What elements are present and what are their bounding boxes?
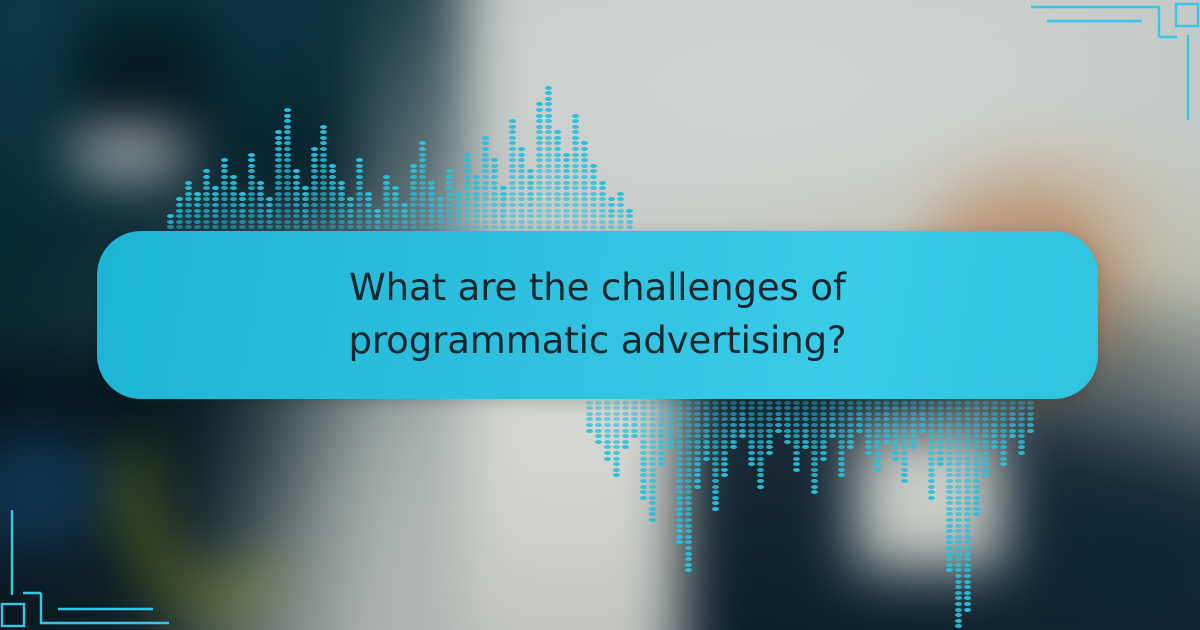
waveform-dot (1009, 401, 1016, 405)
waveform-dot (563, 186, 570, 190)
waveform-dot (464, 181, 471, 185)
waveform-dot (392, 192, 399, 196)
waveform-dot (311, 220, 318, 224)
waveform-dot (554, 164, 561, 168)
waveform-bar (607, 197, 616, 231)
waveform-dot (410, 175, 417, 179)
waveform-dot (973, 423, 980, 427)
waveform-dot (311, 158, 318, 162)
waveform-dot (613, 473, 620, 477)
waveform-dot (491, 158, 498, 162)
waveform-dot (410, 220, 417, 224)
waveform-dot (685, 529, 692, 533)
waveform-dot (590, 203, 597, 207)
waveform-dot (667, 434, 674, 438)
waveform-dot (581, 169, 588, 173)
waveform-dot (491, 175, 498, 179)
waveform-dot (176, 225, 183, 229)
waveform-dot (527, 186, 534, 190)
waveform-dot (973, 473, 980, 477)
waveform-dot (955, 457, 962, 461)
waveform-dot (329, 209, 336, 213)
waveform-dot (955, 546, 962, 550)
waveform-dot (802, 412, 809, 416)
waveform-dot (982, 412, 989, 416)
waveform-dot (739, 417, 746, 421)
waveform-dot (275, 181, 282, 185)
waveform-dot (275, 169, 282, 173)
waveform-dot (586, 417, 593, 421)
waveform-dot (766, 440, 773, 444)
waveform-dot (838, 412, 845, 416)
waveform-bar (463, 153, 472, 231)
waveform-dot (194, 214, 201, 218)
waveform-dot (838, 451, 845, 455)
waveform-dot (712, 490, 719, 494)
waveform-bar (828, 399, 837, 438)
waveform-bar (891, 399, 900, 461)
waveform-dot (536, 108, 543, 112)
waveform-dot (302, 209, 309, 213)
waveform-dot (446, 214, 453, 218)
waveform-dot (883, 401, 890, 405)
waveform-dot (766, 417, 773, 421)
waveform-dot (649, 479, 656, 483)
waveform-dot (631, 423, 638, 427)
waveform-dot (599, 209, 606, 213)
waveform-dot (892, 445, 899, 449)
waveform-dot (329, 181, 336, 185)
waveform-dot (482, 169, 489, 173)
waveform-bar (472, 175, 481, 231)
waveform-dot (928, 490, 935, 494)
waveform-dot (721, 434, 728, 438)
waveform-dot (545, 209, 552, 213)
waveform-dot (964, 473, 971, 477)
waveform-dot (329, 220, 336, 224)
waveform-dot (536, 130, 543, 134)
waveform-dot (347, 225, 354, 229)
waveform-dot (892, 406, 899, 410)
waveform-dot (1027, 406, 1034, 410)
waveform-dot (518, 197, 525, 201)
waveform-dot (500, 209, 507, 213)
waveform-dot (617, 220, 624, 224)
waveform-dot (482, 181, 489, 185)
waveform-dot (572, 153, 579, 157)
waveform-dot (703, 417, 710, 421)
waveform-dot (446, 225, 453, 229)
waveform-dot (991, 423, 998, 427)
waveform-dot (473, 203, 480, 207)
waveform-dot (491, 164, 498, 168)
waveform-dot (820, 417, 827, 421)
waveform-dot (320, 186, 327, 190)
waveform-dot (194, 192, 201, 196)
waveform-dot (676, 490, 683, 494)
waveform-dot (293, 175, 300, 179)
waveform-dot (473, 197, 480, 201)
waveform-dot (964, 563, 971, 567)
circuit-corner-icon-bottom-left (0, 510, 175, 630)
waveform-dot (883, 440, 890, 444)
waveform-dot (757, 479, 764, 483)
waveform-dot (622, 445, 629, 449)
waveform-dot (203, 186, 210, 190)
waveform-dot (329, 175, 336, 179)
waveform-bar (175, 197, 184, 231)
waveform-dot (581, 141, 588, 145)
waveform-dot (338, 197, 345, 201)
waveform-dot (874, 412, 881, 416)
waveform-dot (964, 496, 971, 500)
waveform-dot (658, 423, 665, 427)
waveform-dot (667, 423, 674, 427)
waveform-dot (703, 429, 710, 433)
waveform-dot (928, 434, 935, 438)
waveform-dot (757, 468, 764, 472)
waveform-bar (990, 399, 999, 449)
waveform-bar (927, 399, 936, 500)
waveform-dot (946, 457, 953, 461)
waveform-dot (518, 153, 525, 157)
waveform-bar (211, 186, 220, 231)
waveform-dot (739, 401, 746, 405)
waveform-dot (640, 485, 647, 489)
waveform-bar (481, 136, 490, 231)
waveform-dot (482, 147, 489, 151)
waveform-dot (275, 225, 282, 229)
waveform-dot (721, 417, 728, 421)
waveform-dot (1009, 406, 1016, 410)
circuit-corner-icon-top-right (1025, 0, 1200, 120)
waveform-dot (883, 423, 890, 427)
waveform-dot (811, 451, 818, 455)
waveform-dot (617, 214, 624, 218)
waveform-dot (856, 429, 863, 433)
waveform-dot (676, 445, 683, 449)
waveform-dot (901, 462, 908, 466)
waveform-dot (964, 552, 971, 556)
waveform-dot (455, 225, 462, 229)
waveform-dot (604, 451, 611, 455)
waveform-dot (694, 473, 701, 477)
waveform-dot (509, 136, 516, 140)
waveform-dot (685, 501, 692, 505)
waveform-dot (581, 220, 588, 224)
waveform-dot (676, 479, 683, 483)
waveform-dot (946, 535, 953, 539)
waveform-dot (865, 429, 872, 433)
waveform-dot (410, 164, 417, 168)
waveform-dot (275, 214, 282, 218)
waveform-dot (838, 406, 845, 410)
waveform-dot (964, 602, 971, 606)
waveform-dot (563, 164, 570, 168)
waveform-dot (838, 434, 845, 438)
waveform-dot (658, 417, 665, 421)
waveform-dot (509, 175, 516, 179)
waveform-dot (649, 496, 656, 500)
waveform-bar (792, 399, 801, 472)
waveform-dot (581, 164, 588, 168)
waveform-dot (320, 164, 327, 168)
waveform-dot (554, 203, 561, 207)
waveform-dot (631, 406, 638, 410)
waveform-dot (757, 434, 764, 438)
waveform-dot (811, 473, 818, 477)
waveform-dot (631, 412, 638, 416)
waveform-dot (649, 401, 656, 405)
waveform-dot (829, 401, 836, 405)
waveform-dot (419, 220, 426, 224)
waveform-bar (873, 399, 882, 472)
waveform-dot (500, 203, 507, 207)
waveform-dot (694, 445, 701, 449)
waveform-dot (482, 158, 489, 162)
waveform-dot (374, 214, 381, 218)
waveform-dot (649, 417, 656, 421)
waveform-dot (793, 468, 800, 472)
waveform-dot (266, 220, 273, 224)
waveform-dot (685, 445, 692, 449)
waveform-dot (527, 192, 534, 196)
waveform-dot (203, 225, 210, 229)
waveform-bar (666, 399, 675, 449)
waveform-dot (712, 507, 719, 511)
waveform-dot (649, 507, 656, 511)
waveform-dot (203, 214, 210, 218)
waveform-dot (572, 220, 579, 224)
waveform-bar (756, 399, 765, 489)
waveform-dot (302, 214, 309, 218)
waveform-dot (1000, 429, 1007, 433)
waveform-dot (482, 164, 489, 168)
waveform-dot (572, 114, 579, 118)
waveform-dot (176, 209, 183, 213)
waveform-dot (667, 412, 674, 416)
waveform-dot (599, 192, 606, 196)
waveform-dot (356, 181, 363, 185)
waveform-dot (964, 434, 971, 438)
waveform-dot (428, 209, 435, 213)
waveform-dot (419, 141, 426, 145)
waveform-dot (356, 169, 363, 173)
waveform-dot (919, 401, 926, 405)
waveform-dot (212, 186, 219, 190)
waveform-dot (793, 429, 800, 433)
waveform-dot (491, 181, 498, 185)
waveform-dot (964, 429, 971, 433)
waveform-dot (293, 214, 300, 218)
waveform-dot (829, 412, 836, 416)
waveform-dot (392, 203, 399, 207)
waveform-bar (882, 399, 891, 444)
waveform-dot (257, 225, 264, 229)
waveform-dot (554, 192, 561, 196)
title-card[interactable]: What are the challenges of programmatic … (97, 231, 1098, 399)
waveform-dot (383, 225, 390, 229)
waveform-dot (608, 203, 615, 207)
waveform-dot (419, 186, 426, 190)
waveform-bar (585, 399, 594, 433)
waveform-dot (437, 209, 444, 213)
waveform-dot (221, 192, 228, 196)
waveform-dot (802, 423, 809, 427)
waveform-dot (676, 417, 683, 421)
waveform-dot (473, 225, 480, 229)
waveform-dot (572, 175, 579, 179)
waveform-dot (649, 406, 656, 410)
waveform-bar (184, 181, 193, 231)
waveform-dot (311, 175, 318, 179)
waveform-dot (955, 462, 962, 466)
waveform-dot (955, 496, 962, 500)
waveform-dot (946, 473, 953, 477)
waveform-dot (284, 181, 291, 185)
waveform-dot (545, 153, 552, 157)
waveform-dot (1018, 406, 1025, 410)
waveform-dot (410, 197, 417, 201)
waveform-dot (581, 186, 588, 190)
waveform-dot (536, 125, 543, 129)
waveform-dot (622, 429, 629, 433)
waveform-dot (964, 574, 971, 578)
waveform-dot (910, 412, 917, 416)
waveform-bar (418, 141, 427, 231)
waveform-dot (640, 490, 647, 494)
waveform-dot (356, 164, 363, 168)
waveform-dot (383, 186, 390, 190)
waveform-dot (820, 457, 827, 461)
waveform-dot (919, 423, 926, 427)
waveform-dot (964, 440, 971, 444)
waveform-bar (274, 130, 283, 231)
waveform-dot (775, 417, 782, 421)
waveform-dot (703, 401, 710, 405)
waveform-bar (864, 399, 873, 455)
waveform-dot (865, 417, 872, 421)
waveform-dot (766, 434, 773, 438)
waveform-dot (955, 619, 962, 623)
waveform-dot (640, 417, 647, 421)
waveform-dot (946, 434, 953, 438)
waveform-dot (464, 175, 471, 179)
page-title: What are the challenges of programmatic … (228, 262, 968, 367)
waveform-dot (266, 197, 273, 201)
waveform-dot (284, 192, 291, 196)
waveform-dot (230, 181, 237, 185)
waveform-dot (928, 423, 935, 427)
waveform-dot (446, 197, 453, 201)
waveform-dot (946, 496, 953, 500)
waveform-dot (419, 209, 426, 213)
waveform-dot (991, 401, 998, 405)
waveform-dot (437, 225, 444, 229)
waveform-dot (811, 445, 818, 449)
waveform-dot (1000, 434, 1007, 438)
waveform-dot (973, 406, 980, 410)
waveform-dot (428, 181, 435, 185)
waveform-dot (991, 429, 998, 433)
waveform-dot (946, 451, 953, 455)
waveform-dot (248, 169, 255, 173)
waveform-dot (554, 225, 561, 229)
waveform-dot (892, 434, 899, 438)
waveform-dot (721, 401, 728, 405)
waveform-dot (658, 462, 665, 466)
waveform-dot (811, 485, 818, 489)
waveform-dot (649, 440, 656, 444)
waveform-dot (901, 473, 908, 477)
waveform-bar (648, 399, 657, 522)
waveform-dot (928, 429, 935, 433)
waveform-dot (446, 169, 453, 173)
waveform-dot (545, 136, 552, 140)
waveform-dot (955, 518, 962, 522)
waveform-dot (473, 214, 480, 218)
waveform-dot (572, 192, 579, 196)
waveform-dot (748, 423, 755, 427)
waveform-dot (581, 225, 588, 229)
waveform-dot (581, 192, 588, 196)
waveform-dot (1018, 434, 1025, 438)
waveform-dot (491, 192, 498, 196)
waveform-dot (964, 585, 971, 589)
waveform-dot (865, 445, 872, 449)
waveform-dot (221, 158, 228, 162)
waveform-dot (955, 412, 962, 416)
waveform-bar (594, 399, 603, 444)
waveform-dot (518, 181, 525, 185)
waveform-dot (275, 175, 282, 179)
waveform-dot (248, 214, 255, 218)
waveform-dot (554, 136, 561, 140)
waveform-dot (811, 468, 818, 472)
waveform-dot (554, 214, 561, 218)
waveform-dot (365, 214, 372, 218)
waveform-dot (338, 186, 345, 190)
waveform-dot (937, 401, 944, 405)
waveform-dot (554, 158, 561, 162)
waveform-dot (604, 457, 611, 461)
waveform-dot (982, 434, 989, 438)
waveform-dot (586, 406, 593, 410)
waveform-dot (973, 401, 980, 405)
waveform-dot (248, 158, 255, 162)
waveform-dot (883, 406, 890, 410)
waveform-dot (1000, 401, 1007, 405)
waveform-dot (685, 468, 692, 472)
waveform-dot (766, 406, 773, 410)
waveform-dot (464, 225, 471, 229)
waveform-dot (964, 524, 971, 528)
waveform-dot (464, 209, 471, 213)
waveform-dot (356, 203, 363, 207)
waveform-dot (248, 186, 255, 190)
waveform-dot (482, 136, 489, 140)
waveform-dot (964, 568, 971, 572)
waveform-dot (973, 496, 980, 500)
waveform-dot (491, 214, 498, 218)
waveform-dot (928, 496, 935, 500)
waveform-dot (640, 462, 647, 466)
waveform-dot (599, 214, 606, 218)
waveform-dot (338, 214, 345, 218)
waveform-dot (631, 401, 638, 405)
waveform-dot (973, 462, 980, 466)
waveform-dot (563, 220, 570, 224)
